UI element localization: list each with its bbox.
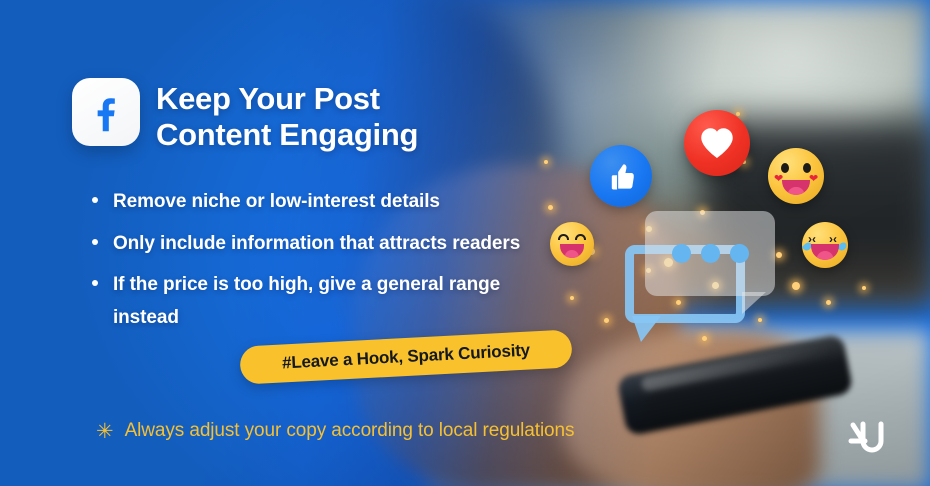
chat-bubble-outline-tail	[632, 316, 661, 342]
bullet-text: Remove niche or low-interest details	[113, 186, 440, 219]
heart-eyes-emoji-icon: ❤ ❤	[768, 148, 824, 204]
typing-dot-1	[672, 244, 691, 263]
footnote: ✳ Always adjust your copy according to l…	[96, 420, 574, 442]
joy-emoji-icon: ›‹ ›‹	[802, 222, 848, 268]
bullet-dot-icon	[92, 280, 98, 286]
bullet-dot-icon	[92, 239, 98, 245]
list-item: If the price is too high, give a general…	[92, 269, 562, 334]
company-logo-mark	[845, 415, 893, 460]
bullet-list: Remove niche or low-interest details Onl…	[92, 186, 562, 344]
facebook-icon	[72, 78, 140, 146]
chat-bubble-typing	[645, 211, 775, 296]
bullet-dot-icon	[92, 197, 98, 203]
bullet-text: If the price is too high, give a general…	[113, 269, 562, 334]
heart-reaction-icon	[684, 110, 750, 176]
hook-badge-label: #Leave a Hook, Spark Curiosity	[282, 341, 531, 374]
header-row: Keep Your Post Content Engaging	[72, 78, 418, 153]
chat-bubble-typing-tail	[742, 292, 766, 314]
social-media-graphic: ❤ ❤ ›‹ ›‹ Keep Your Post Content	[0, 0, 930, 486]
bullet-text: Only include information that attracts r…	[113, 228, 520, 261]
content-column: Keep Your Post Content Engaging Remove n…	[0, 0, 620, 486]
typing-dot-2	[701, 244, 720, 263]
typing-dot-3	[730, 244, 749, 263]
list-item: Only include information that attracts r…	[92, 228, 562, 261]
list-item: Remove niche or low-interest details	[92, 186, 562, 219]
page-title: Keep Your Post Content Engaging	[156, 78, 418, 153]
footnote-text: Always adjust your copy according to loc…	[125, 420, 575, 442]
asterisk-icon: ✳	[96, 421, 114, 442]
